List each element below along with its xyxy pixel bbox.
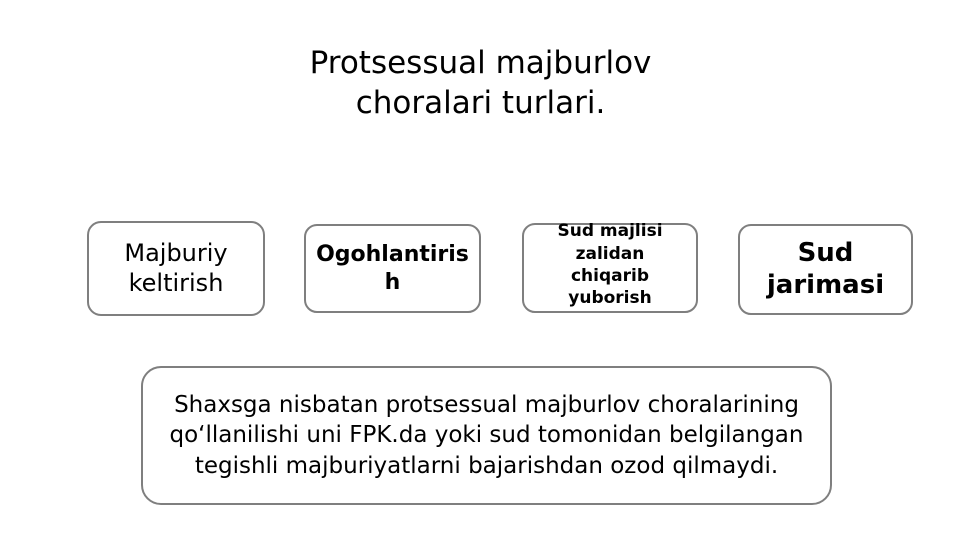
measure-box-sud-jarimasi[interactable]: Sud jarimasi bbox=[738, 224, 913, 315]
measure-box-ogohlantirish[interactable]: Ogohlantirish bbox=[304, 224, 481, 313]
measure-box-label: Majburiy keltirish bbox=[89, 239, 263, 298]
note-box[interactable]: Shaxsga nisbatan protsessual majburlov c… bbox=[141, 366, 832, 505]
measure-box-label: Sud majlisi zalidan chiqarib yuborish bbox=[524, 220, 696, 310]
measure-box-label: Ogohlantirish bbox=[306, 241, 479, 296]
note-box-text: Shaxsga nisbatan protsessual majburlov c… bbox=[143, 390, 830, 481]
slide-canvas: Protsessual majburlov choralari turlari.… bbox=[0, 0, 961, 540]
measure-box-label: Sud jarimasi bbox=[740, 238, 911, 300]
measure-box-majburiy-keltirish[interactable]: Majburiy keltirish bbox=[87, 221, 265, 316]
page-title: Protsessual majburlov choralari turlari. bbox=[160, 44, 801, 123]
measure-box-sud-majlisi-zalidan-chiqarib-yuborish[interactable]: Sud majlisi zalidan chiqarib yuborish bbox=[522, 223, 698, 313]
